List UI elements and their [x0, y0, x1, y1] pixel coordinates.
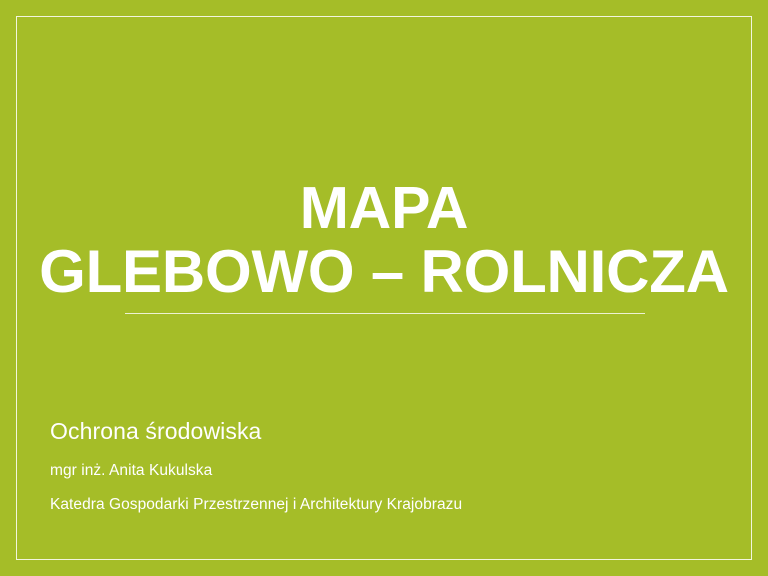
- subtitle-department: Katedra Gospodarki Przestrzennej i Archi…: [50, 494, 708, 516]
- subtitle-block: Ochrona środowiska mgr inż. Anita Kukuls…: [50, 416, 708, 516]
- subtitle-author: mgr inż. Anita Kukulska: [50, 460, 708, 482]
- title-divider-rule: [125, 313, 645, 314]
- title-line-2: GLEBOWO – ROLNICZA: [0, 240, 768, 304]
- slide-title: MAPA GLEBOWO – ROLNICZA: [0, 176, 768, 304]
- title-line-1: MAPA: [0, 176, 768, 240]
- title-slide: MAPA GLEBOWO – ROLNICZA Ochrona środowis…: [0, 0, 768, 576]
- subtitle-course: Ochrona środowiska: [50, 416, 708, 446]
